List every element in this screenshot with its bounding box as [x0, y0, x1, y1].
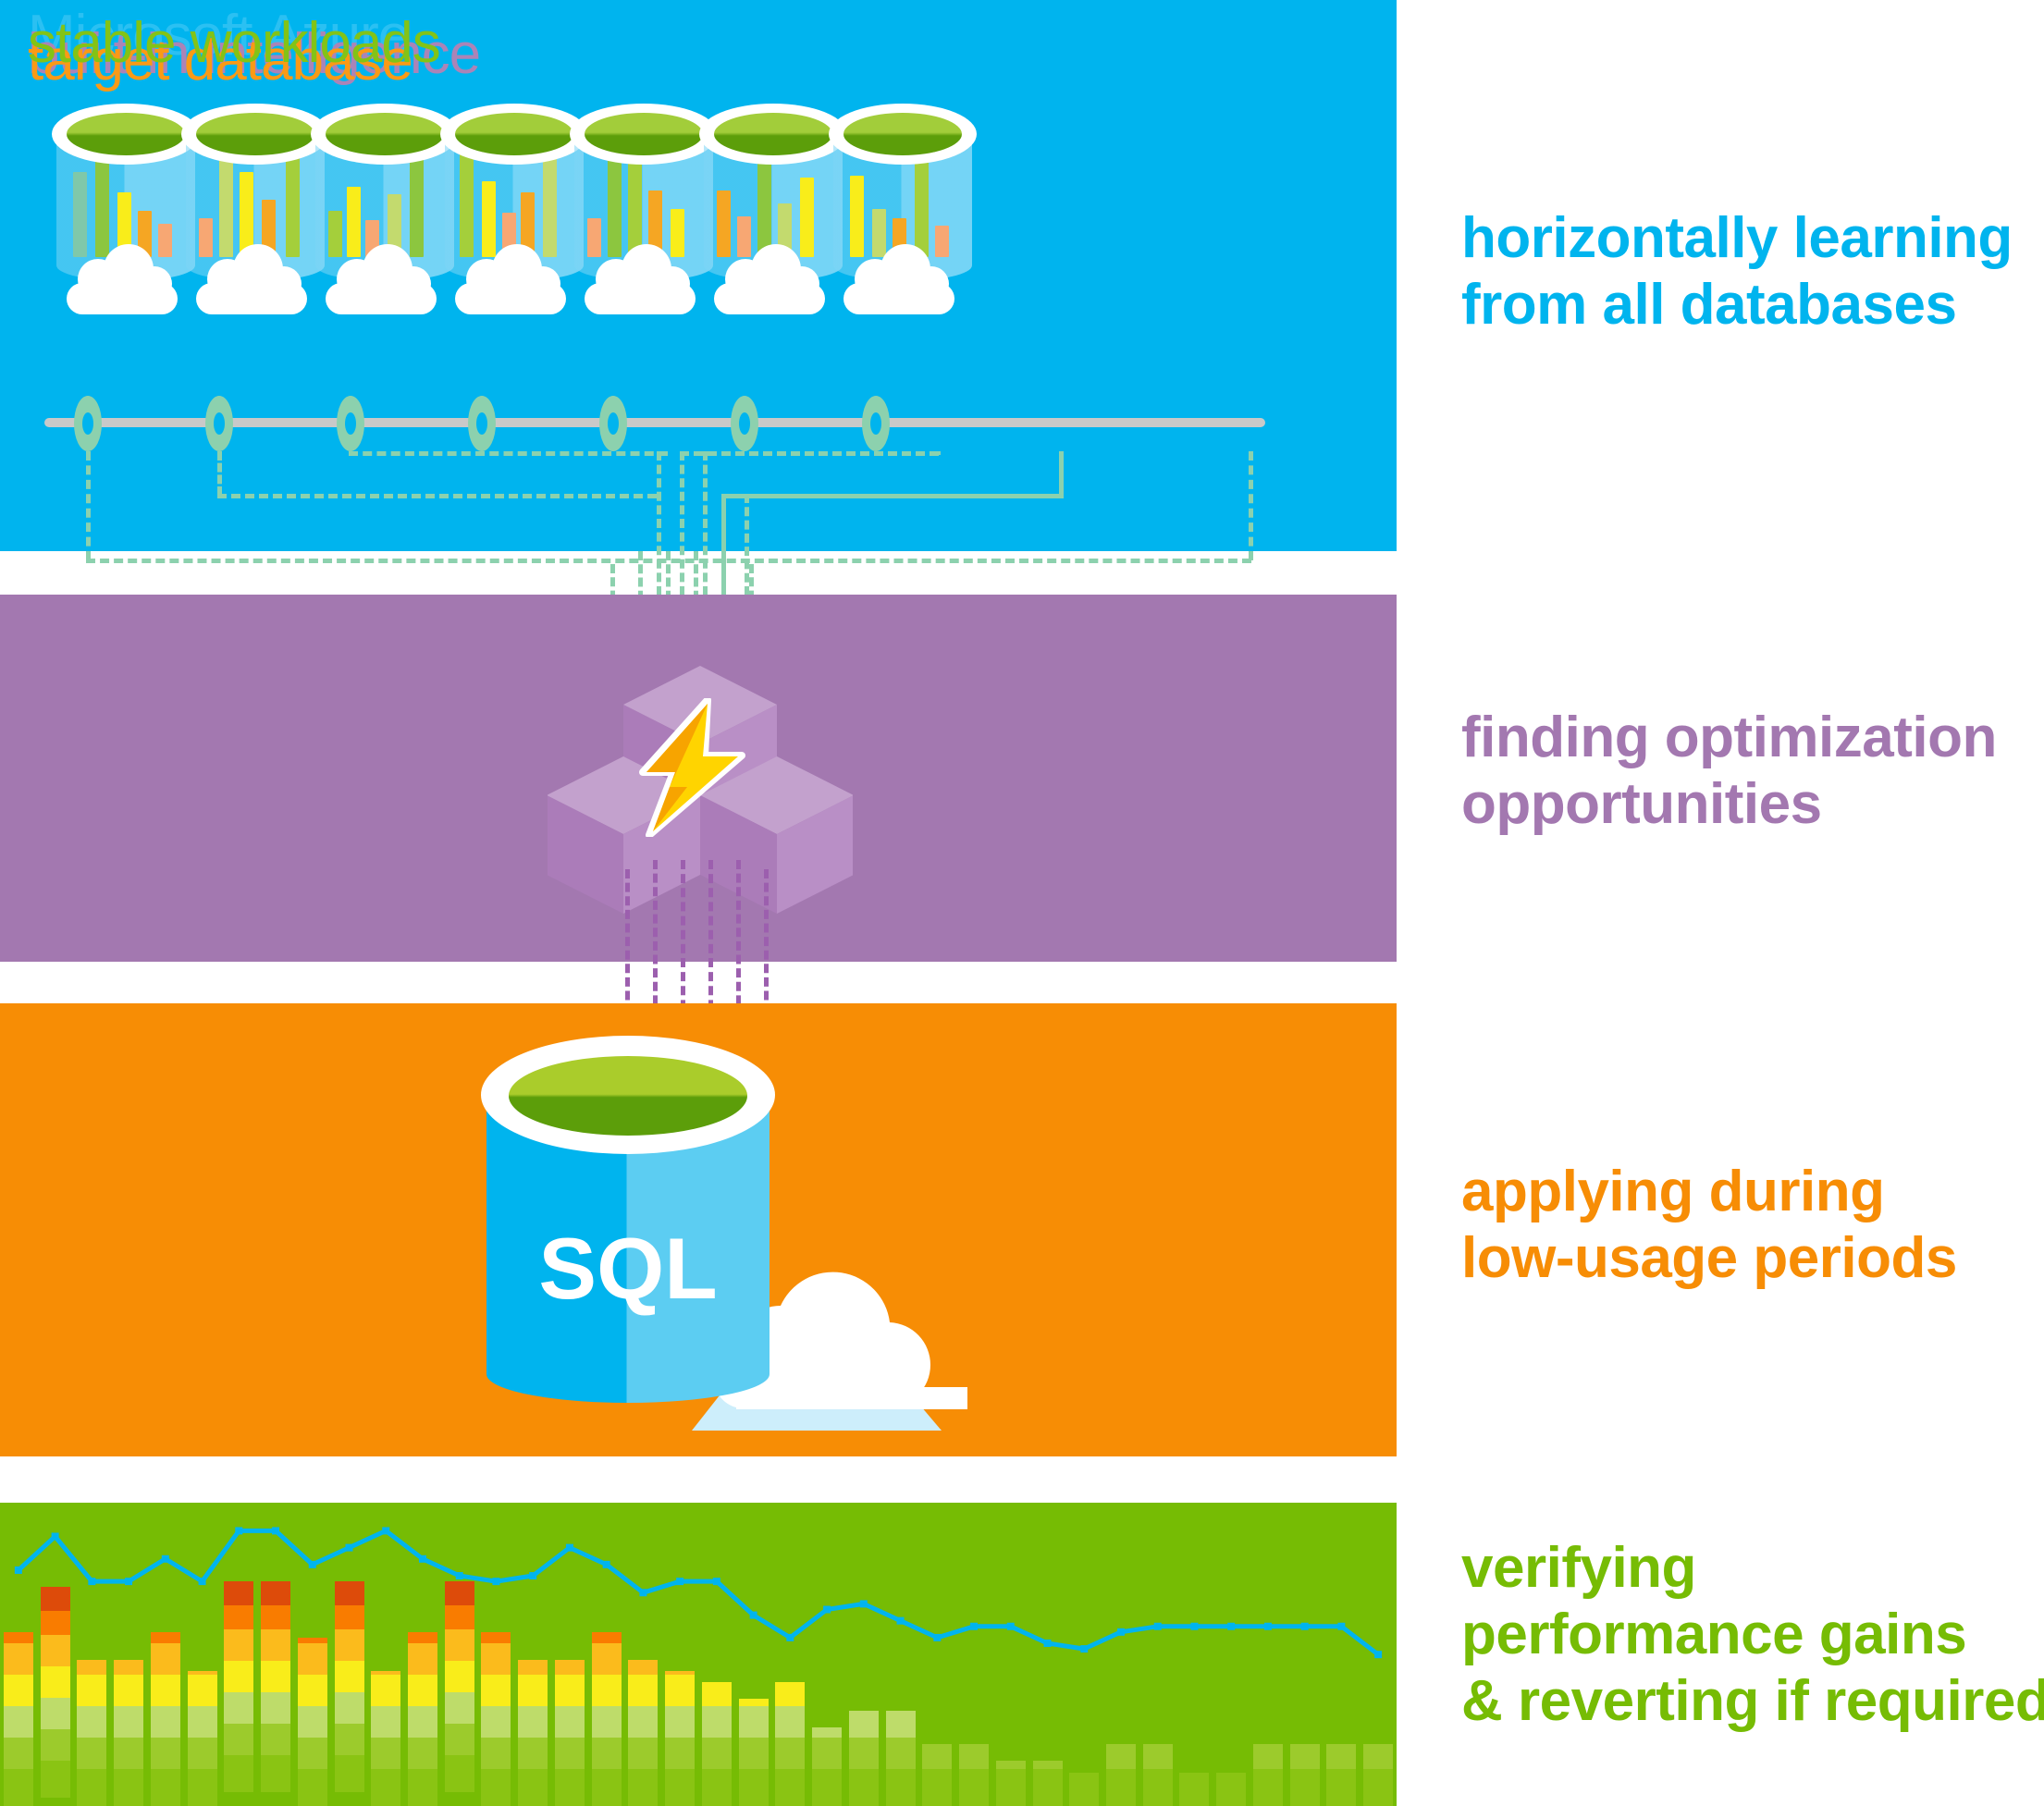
caption-applying-during: applying during low-usage periods — [1461, 1159, 1957, 1292]
caption-line: verifying — [1461, 1535, 2044, 1602]
trend-marker — [88, 1578, 95, 1585]
trend-polyline — [18, 1530, 1378, 1654]
caption-horizontal-learning: horizontally learning from all databases — [1461, 205, 2013, 338]
trend-marker — [1227, 1623, 1235, 1630]
trend-marker — [1301, 1623, 1309, 1630]
database-cylinder-icon — [821, 104, 983, 298]
trend-marker — [1117, 1628, 1125, 1636]
cloud-icon — [843, 259, 954, 314]
timeline-node-icon[interactable] — [337, 396, 364, 451]
caption-verifying-performance: verifying performance gains & reverting … — [1461, 1535, 2044, 1735]
trend-marker — [235, 1527, 242, 1534]
cylinder-lid — [714, 113, 832, 155]
caption-line: performance gains — [1461, 1602, 2044, 1668]
trend-marker — [1337, 1623, 1345, 1630]
trend-marker — [786, 1634, 794, 1641]
cylinder-lid — [843, 113, 962, 155]
watermark-stable-workloads: stable workloads — [28, 15, 440, 72]
trend-marker — [272, 1527, 279, 1534]
trend-marker — [603, 1561, 610, 1568]
trend-marker — [492, 1578, 499, 1585]
trend-marker — [933, 1634, 941, 1641]
cloud-icon — [196, 259, 307, 314]
trend-marker — [529, 1572, 536, 1579]
caption-line: horizontally learning — [1461, 205, 2013, 272]
trend-marker — [713, 1578, 720, 1585]
trend-marker — [15, 1566, 22, 1574]
trend-marker — [309, 1561, 316, 1568]
cloud-icon — [585, 259, 696, 314]
trend-marker — [1154, 1623, 1162, 1630]
trend-marker — [639, 1589, 646, 1596]
trend-marker — [897, 1617, 905, 1625]
cylinder-lid — [585, 113, 703, 155]
sql-cylinder: SQL — [481, 1036, 786, 1433]
caption-finding-optimization: finding optimization opportunities — [1461, 705, 1997, 838]
trend-marker — [823, 1606, 831, 1614]
trend-marker — [382, 1527, 389, 1534]
sql-cylinder-lid — [509, 1056, 747, 1136]
cloud-icon — [67, 259, 178, 314]
trend-marker — [676, 1578, 683, 1585]
trend-marker — [566, 1544, 573, 1552]
lightning-bolt-icon — [638, 698, 749, 837]
cylinder-lid — [455, 113, 573, 155]
workload-chart — [0, 1503, 1397, 1806]
timeline-node-icon[interactable] — [74, 396, 102, 451]
sql-database-icon: SQL — [462, 1036, 1036, 1443]
cylinder-lid — [196, 113, 314, 155]
trend-marker — [1044, 1640, 1052, 1647]
trend-marker — [52, 1532, 59, 1540]
cloud-icon — [326, 259, 437, 314]
timeline-node-icon[interactable] — [731, 396, 758, 451]
trend-marker — [162, 1555, 169, 1563]
caption-line: finding optimization — [1461, 705, 1997, 771]
cylinder-lid — [326, 113, 444, 155]
caption-line: opportunities — [1461, 771, 1997, 838]
trend-marker — [1374, 1651, 1382, 1658]
trend-marker — [970, 1623, 978, 1630]
caption-line: applying during — [1461, 1159, 1957, 1225]
trend-marker — [125, 1578, 132, 1585]
trend-marker — [860, 1600, 868, 1607]
caption-line: low-usage periods — [1461, 1225, 1957, 1292]
caption-line: & reverting if required — [1461, 1668, 2044, 1735]
trend-marker — [346, 1544, 353, 1552]
cloud-icon — [714, 259, 825, 314]
trend-marker — [419, 1555, 426, 1563]
sql-label: SQL — [481, 1219, 775, 1319]
timeline-node-icon[interactable] — [599, 396, 627, 451]
timeline-node-icon[interactable] — [205, 396, 233, 451]
trend-marker — [1080, 1645, 1088, 1652]
caption-line: from all databases — [1461, 272, 2013, 338]
timeline-node-icon[interactable] — [862, 396, 890, 451]
cloud-icon — [455, 259, 566, 314]
diagram-canvas: Microsoft Azure — [0, 0, 2044, 1806]
trend-marker — [199, 1578, 206, 1585]
trend-marker — [1190, 1623, 1198, 1630]
timeline-node-icon[interactable] — [468, 396, 496, 451]
trend-marker — [1264, 1623, 1272, 1630]
chart-trend-line — [0, 1503, 1397, 1806]
trend-marker — [1007, 1623, 1015, 1630]
cylinder-lid — [67, 113, 185, 155]
trend-marker — [750, 1612, 757, 1619]
trend-marker — [456, 1572, 463, 1579]
